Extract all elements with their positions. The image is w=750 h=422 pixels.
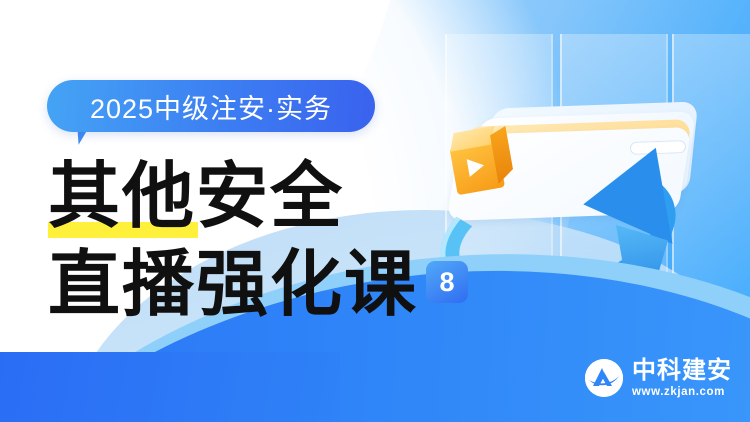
course-category-label: 2025中级注安·实务	[90, 87, 332, 126]
headline-line-1: 其他安全	[48, 152, 468, 240]
brand-logo[interactable]: 中科建安 www.zkjan.com	[585, 359, 732, 399]
headline-line-2: 直播强化课 8	[48, 240, 468, 328]
play-triangle-icon	[467, 156, 486, 177]
brand-name: 中科建安	[632, 359, 732, 383]
course-category-tag: 2025中级注安·实务	[47, 80, 375, 132]
headline-line-2-text: 直播强化课	[48, 240, 418, 328]
headline-block: 其他安全 直播强化课 8	[48, 152, 468, 328]
wave-left-cap	[0, 352, 340, 422]
zkjan-logo-icon	[585, 359, 623, 397]
brand-logo-text: 中科建安 www.zkjan.com	[632, 359, 732, 399]
brand-url: www.zkjan.com	[632, 387, 732, 399]
course-banner: 2025中级注安·实务 其他安全 直播强化课 8 中科建安 www.zkjan.…	[0, 0, 750, 422]
episode-number-badge: 8	[426, 261, 468, 303]
headline-line-1-text: 其他安全	[48, 153, 344, 238]
